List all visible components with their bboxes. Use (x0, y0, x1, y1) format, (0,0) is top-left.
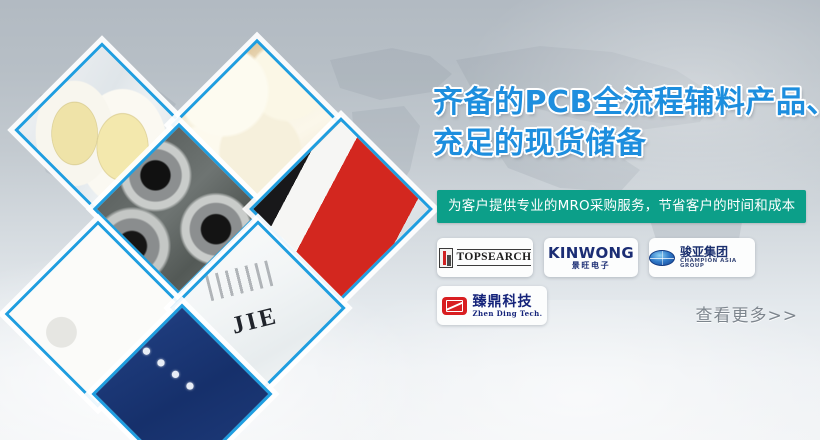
logo-champion-asia[interactable]: 骏亚集团 CHAMPION ASIA GROUP (649, 238, 755, 277)
champion-asia-cn-name: 骏亚集团 (680, 246, 728, 258)
banner-subtitle-text: 为客户提供专业的MRO采购服务，节省客户的时间和成本 (448, 200, 795, 214)
champion-asia-text: 骏亚集团 CHAMPION ASIA GROUP (680, 246, 755, 270)
product-image-collage: JIE (0, 0, 440, 440)
logo-topsearch[interactable]: TOPSEARCH (437, 238, 533, 277)
client-logo-row-1: TOPSEARCH KINWONG 景旺电子 骏亚集团 CHAMPION ASI… (437, 238, 817, 277)
banner-headline: 齐备的PCB全流程辅料产品、 充足的现货储备 (433, 82, 820, 165)
zhen-ding-cn-name: 臻鼎科技 (473, 295, 533, 309)
promo-banner: JIE 齐备的PCB全流程辅料产品、 充足的现货储备 为客户提供专业的MRO采购… (0, 0, 820, 440)
kinwong-wordmark: KINWONG (548, 246, 634, 261)
zhen-ding-mark-icon (442, 297, 467, 315)
champion-asia-en-name: CHAMPION ASIA GROUP (680, 259, 755, 270)
view-more-link[interactable]: 查看更多>> (696, 308, 799, 325)
zhen-ding-text: 臻鼎科技 Zhen Ding Tech. (473, 295, 543, 317)
logo-kinwong[interactable]: KINWONG 景旺电子 (544, 238, 638, 277)
zhen-ding-en-name: Zhen Ding Tech. (473, 310, 543, 317)
banner-subtitle-bar: 为客户提供专业的MRO采购服务，节省客户的时间和成本 (437, 190, 806, 223)
topsearch-wordmark: TOPSEARCH (457, 249, 532, 267)
jie-print-marks-icon (204, 259, 275, 300)
headline-line-2: 充足的现货储备 (433, 123, 820, 164)
headline-line-1: 齐备的PCB全流程辅料产品、 (433, 82, 820, 123)
logo-zhen-ding[interactable]: 臻鼎科技 Zhen Ding Tech. (437, 286, 547, 325)
kinwong-cn-name: 景旺电子 (572, 262, 610, 270)
banner-content: 齐备的PCB全流程辅料产品、 充足的现货储备 为客户提供专业的MRO采购服务，节… (428, 0, 820, 440)
champion-asia-globe-icon (649, 250, 675, 266)
navy-board-holes-icon (140, 344, 242, 408)
jie-board-text: JIE (228, 302, 281, 342)
topsearch-mark-icon (439, 248, 453, 268)
